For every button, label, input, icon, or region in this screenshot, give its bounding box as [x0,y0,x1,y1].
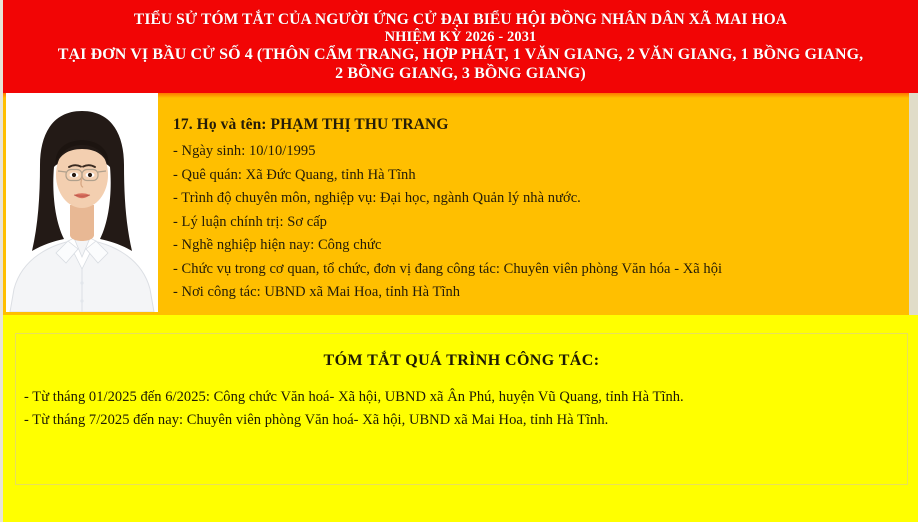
work-summary-band: TÓM TẮT QUÁ TRÌNH CÔNG TÁC: - Từ tháng 0… [0,315,918,522]
candidate-name-line: 17. Họ và tên: PHẠM THỊ THU TRANG [173,115,895,134]
detail-birthdate: - Ngày sinh: 10/10/1995 [173,140,895,163]
header-title-line-4: 2 BỒNG GIANG, 3 BỒNG GIANG) [335,65,586,84]
detail-workplace: - Nơi công tác: UBND xã Mai Hoa, tỉnh Hà… [173,281,895,304]
detail-education: - Trình độ chuyên môn, nghiệp vụ: Đại họ… [173,187,895,210]
header-title-line-1: TIỂU SỬ TÓM TẮT CỦA NGƯỜI ỨNG CỬ ĐẠI BIỂ… [134,11,787,29]
header-title-line-3: TẠI ĐƠN VỊ BẦU CỬ SỐ 4 (THÔN CẨM TRANG, … [58,46,864,65]
header-banner: TIỂU SỬ TÓM TẮT CỦA NGƯỜI ỨNG CỬ ĐẠI BIỂ… [0,0,918,93]
candidate-name-value: PHẠM THỊ THU TRANG [271,116,449,133]
candidate-details: 17. Họ và tên: PHẠM THỊ THU TRANG - Ngày… [173,115,895,305]
work-summary-box: TÓM TẮT QUÁ TRÌNH CÔNG TÁC: - Từ tháng 0… [15,333,908,485]
work-summary-list: - Từ tháng 01/2025 đến 6/2025: Công chức… [16,386,907,433]
candidate-info-band: 17. Họ và tên: PHẠM THỊ THU TRANG - Ngày… [0,93,918,315]
candidate-number: 17. [173,116,193,133]
work-summary-entry: - Từ tháng 7/2025 đến nay: Chuyên viên p… [24,409,907,432]
candidate-biography-page: TIỂU SỬ TÓM TẮT CỦA NGƯỜI ỨNG CỬ ĐẠI BIỂ… [0,0,918,522]
work-summary-entry: - Từ tháng 01/2025 đến 6/2025: Công chức… [24,386,907,409]
header-title-line-2: NHIỆM KỲ 2026 - 2031 [385,29,537,46]
detail-hometown: - Quê quán: Xã Đức Quang, tỉnh Hà Tĩnh [173,164,895,187]
portrait-illustration [6,93,158,312]
candidate-name-label: Họ và tên: [197,116,267,133]
detail-position: - Chức vụ trong cơ quan, tổ chức, đơn vị… [173,258,895,281]
work-summary-title: TÓM TẮT QUÁ TRÌNH CÔNG TÁC: [16,352,907,370]
detail-political-theory: - Lý luận chính trị: Sơ cấp [173,211,895,234]
candidate-photo [6,93,158,312]
detail-occupation: - Nghề nghiệp hiện nay: Công chức [173,234,895,257]
